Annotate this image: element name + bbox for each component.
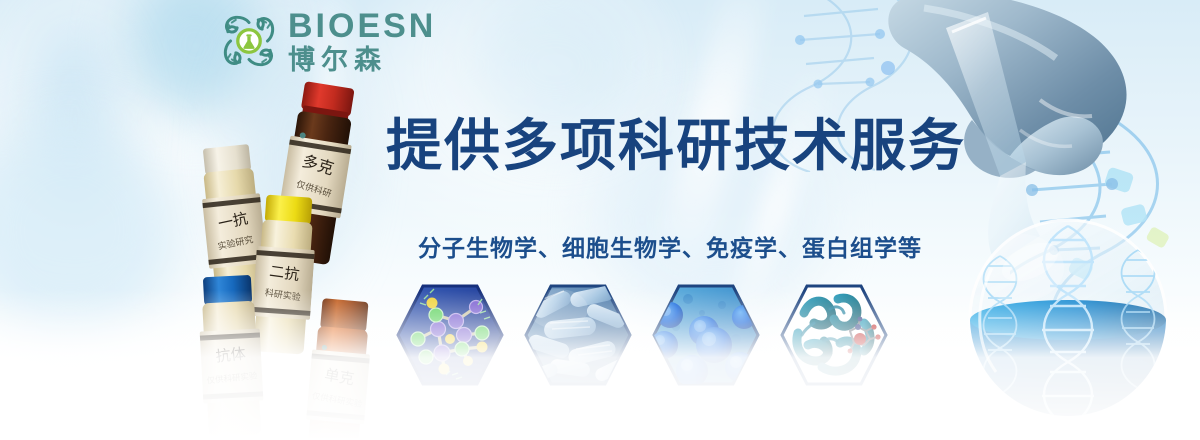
page-title: 提供多项科研技术服务 xyxy=(386,118,946,177)
lab-services-banner: BIOESN 博尔森 xyxy=(0,0,1200,440)
floor-gradient xyxy=(0,290,1200,440)
page-subtitle: 分子生物学、细胞生物学、免疫学、蛋白组学等 xyxy=(386,177,946,263)
headline-block: 提供多项科研技术服务 分子生物学、细胞生物学、免疫学、蛋白组学等 xyxy=(386,118,946,263)
